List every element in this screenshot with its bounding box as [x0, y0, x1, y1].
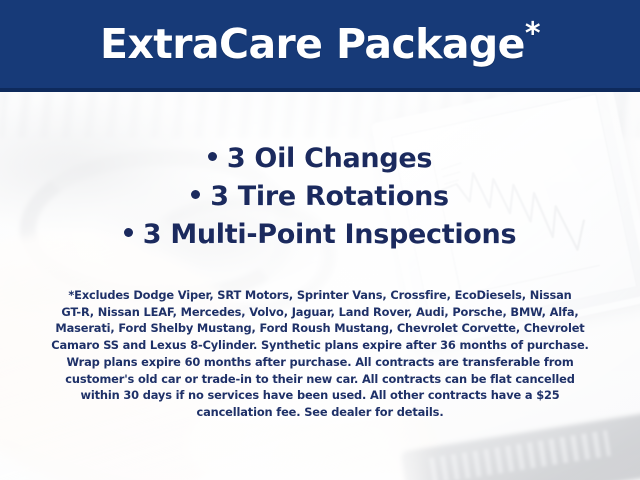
page-title-asterisk: *	[525, 16, 540, 51]
disclaimer-line: Camaro SS and Lexus 8-Cylinder. Syntheti…	[22, 337, 618, 354]
page-title-text: ExtraCare Package	[100, 20, 525, 68]
benefit-label: 3 Multi-Point Inspections	[143, 219, 517, 250]
advertisement-graphic: ExtraCare Package* 3 Oil Changes 3 Tire …	[0, 0, 640, 480]
disclaimer-line: cancellation fee. See dealer for details…	[22, 404, 618, 421]
header-divider	[0, 88, 640, 92]
disclaimer-line: GT-R, Nissan LEAF, Mercedes, Volvo, Jagu…	[22, 304, 618, 321]
header-banner: ExtraCare Package*	[0, 0, 640, 88]
disclaimer-line: within 30 days if no services have been …	[22, 387, 618, 404]
disclaimer-line: Maserati, Ford Shelby Mustang, Ford Rous…	[22, 320, 618, 337]
benefit-label: 3 Tire Rotations	[210, 181, 449, 212]
bullet-icon	[208, 152, 217, 161]
engine-grille-fins-photo-element	[0, 92, 640, 138]
disclaimer-line: Wrap plans expire 60 months after purcha…	[22, 354, 618, 371]
list-item: 3 Oil Changes	[0, 140, 640, 178]
scan-tool-photo-element	[401, 413, 640, 480]
list-item: 3 Tire Rotations	[0, 178, 640, 216]
page-title: ExtraCare Package*	[100, 24, 540, 65]
benefits-list: 3 Oil Changes 3 Tire Rotations 3 Multi-P…	[0, 140, 640, 254]
disclaimer-line: customer's old car or trade-in to their …	[22, 371, 618, 388]
bullet-icon	[124, 228, 133, 237]
disclaimer-block: *Excludes Dodge Viper, SRT Motors, Sprin…	[22, 287, 618, 421]
bullet-icon	[191, 190, 200, 199]
disclaimer-line: *Excludes Dodge Viper, SRT Motors, Sprin…	[22, 287, 618, 304]
scan-tool-keypad-photo-element	[429, 430, 611, 480]
list-item: 3 Multi-Point Inspections	[0, 216, 640, 254]
benefit-label: 3 Oil Changes	[227, 143, 432, 174]
